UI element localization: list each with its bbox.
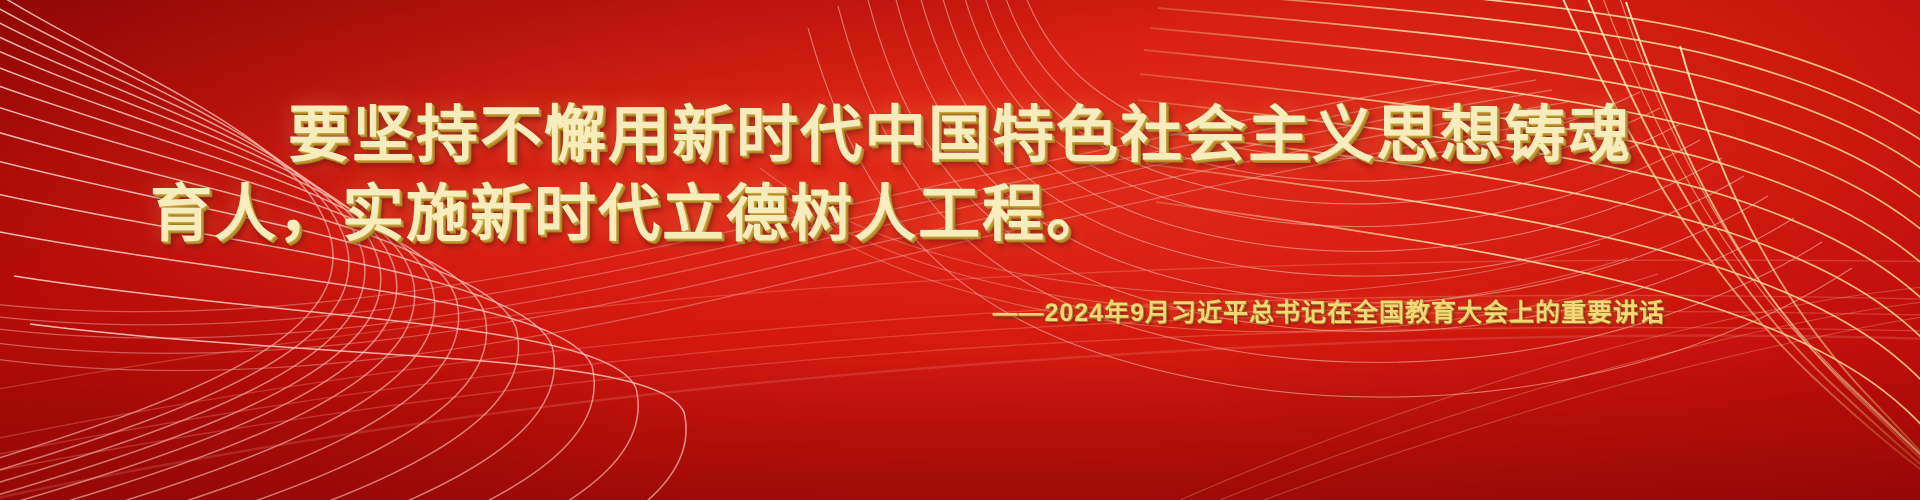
headline-line-2: 育人，实施新时代立德树人工程。 <box>120 175 1800 254</box>
banner-headline: 要坚持不懈用新时代中国特色社会主义思想铸魂 育人，实施新时代立德树人工程。 <box>0 96 1920 255</box>
banner-content: 要坚持不懈用新时代中国特色社会主义思想铸魂 育人，实施新时代立德树人工程。 ——… <box>0 0 1920 500</box>
propaganda-banner: 要坚持不懈用新时代中国特色社会主义思想铸魂 育人，实施新时代立德树人工程。 ——… <box>0 0 1920 500</box>
banner-attribution: ——2024年9月习近平总书记在全国教育大会上的重要讲话 <box>0 293 1920 329</box>
headline-line-1: 要坚持不懈用新时代中国特色社会主义思想铸魂 <box>120 96 1800 175</box>
